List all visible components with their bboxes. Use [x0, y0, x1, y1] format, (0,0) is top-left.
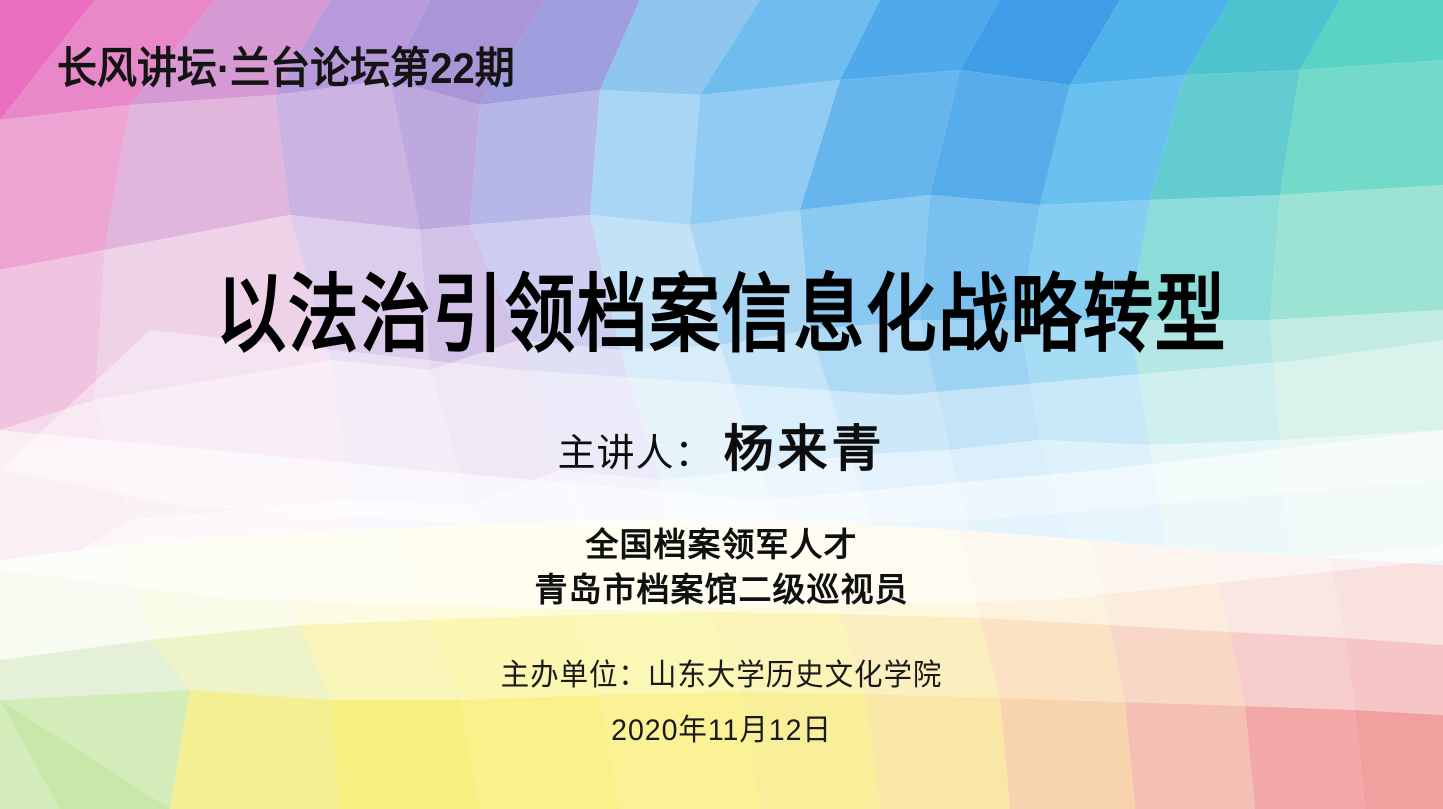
speaker-label: 主讲人： [557, 431, 713, 475]
presentation-slide: 长风讲坛·兰台论坛第22期 以法治引领档案信息化战略转型 主讲人：杨来青 全国档… [0, 0, 1443, 809]
series-eyebrow-text: 长风讲坛·兰台论坛第22期 [57, 48, 515, 91]
speaker-credential-2: 青岛市档案馆二级巡视员 [0, 573, 1443, 606]
organizer-text: 主办单位：山东大学历史文化学院 [36, 661, 1407, 691]
speaker-row: 主讲人：杨来青 [0, 424, 1443, 474]
speaker-credential-1: 全国档案领军人才 [0, 528, 1443, 561]
speaker-name: 杨来青 [724, 419, 886, 478]
slide-text-layer: 长风讲坛·兰台论坛第22期 以法治引领档案信息化战略转型 主讲人：杨来青 全国档… [0, 0, 1443, 809]
event-date-text: 2020年11月12日 [36, 716, 1407, 746]
slide-main-title: 以法治引领档案信息化战略转型 [101, 272, 1342, 357]
